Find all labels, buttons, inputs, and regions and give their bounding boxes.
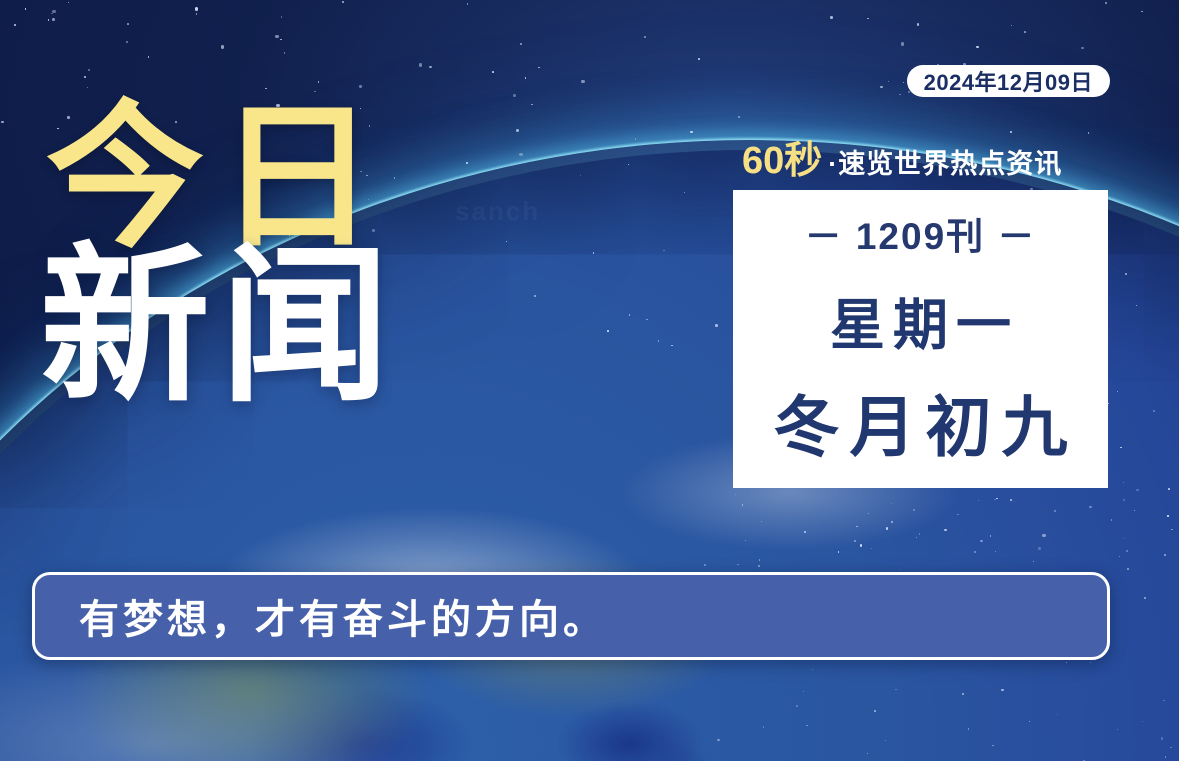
poster-title: 今日 新闻 [46, 98, 476, 415]
quote-text: 有梦想，才有奋斗的方向。 [79, 587, 607, 645]
issue-number: － 1209刊 － [805, 206, 1037, 260]
tagline-description: ·速览世界热点资讯 [828, 151, 1062, 178]
page-title-line-2: 新闻 [40, 241, 476, 414]
tagline: 60秒 ·速览世界热点资讯 [742, 142, 1062, 180]
date-badge: 2024年12月09日 [907, 65, 1110, 97]
weekday-label: 星期一 [822, 280, 1019, 360]
poster-canvas: sanch 2024年12月09日 今日 新闻 60秒 ·速览世界热点资讯 － … [0, 0, 1179, 761]
tagline-seconds: 60秒 [742, 142, 822, 180]
date-badge-label: 2024年12月09日 [924, 65, 1093, 97]
quote-banner: 有梦想，才有奋斗的方向。 [32, 572, 1110, 660]
lunar-date-label: 冬月初九 [764, 374, 1078, 470]
issue-info-card: － 1209刊 － 星期一 冬月初九 [733, 190, 1108, 488]
